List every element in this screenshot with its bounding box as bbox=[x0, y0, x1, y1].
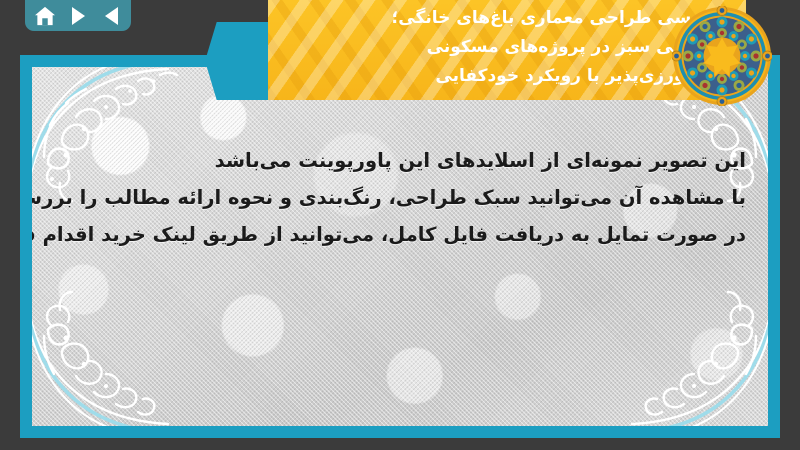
title-line-3: کشاورزی‌پذیر با رویکرد خودکفایی bbox=[284, 62, 718, 91]
arabesque-corner-flourish-bottom-right bbox=[578, 276, 768, 426]
slide-viewer: این تصویر نمونه‌ای از اسلایدهای این پاور… bbox=[0, 0, 800, 450]
slide-content-area: این تصویر نمونه‌ای از اسلایدهای این پاور… bbox=[32, 67, 768, 426]
triangle-right-icon bbox=[72, 7, 85, 25]
body-line-3: در صورت تمایل به دریافت فایل کامل، می‌تو… bbox=[72, 216, 746, 253]
arabesque-corner-flourish-bottom-left bbox=[32, 276, 222, 426]
persian-medallion-ornament bbox=[672, 6, 772, 106]
title-line-1: بررسی طراحی معماری باغ‌های خانگی؛ bbox=[284, 4, 718, 33]
triangle-left-icon bbox=[105, 7, 118, 25]
slide-body-text: این تصویر نمونه‌ای از اسلایدهای این پاور… bbox=[72, 142, 746, 253]
next-slide-button[interactable] bbox=[67, 5, 89, 27]
title-line-2: طراحی سبز در پروژه‌های مسکونی bbox=[284, 33, 718, 62]
body-line-2: با مشاهده آن می‌توانید سبک طراحی، رنگ‌بن… bbox=[72, 179, 746, 216]
previous-slide-button[interactable] bbox=[100, 5, 122, 27]
slide-frame: این تصویر نمونه‌ای از اسلایدهای این پاور… bbox=[20, 55, 780, 438]
home-button[interactable] bbox=[34, 5, 56, 27]
banner-arrow-tail bbox=[205, 22, 270, 100]
body-line-1: این تصویر نمونه‌ای از اسلایدهای این پاور… bbox=[72, 142, 746, 179]
slide-navigation-bar bbox=[25, 0, 131, 31]
home-icon bbox=[34, 6, 56, 26]
